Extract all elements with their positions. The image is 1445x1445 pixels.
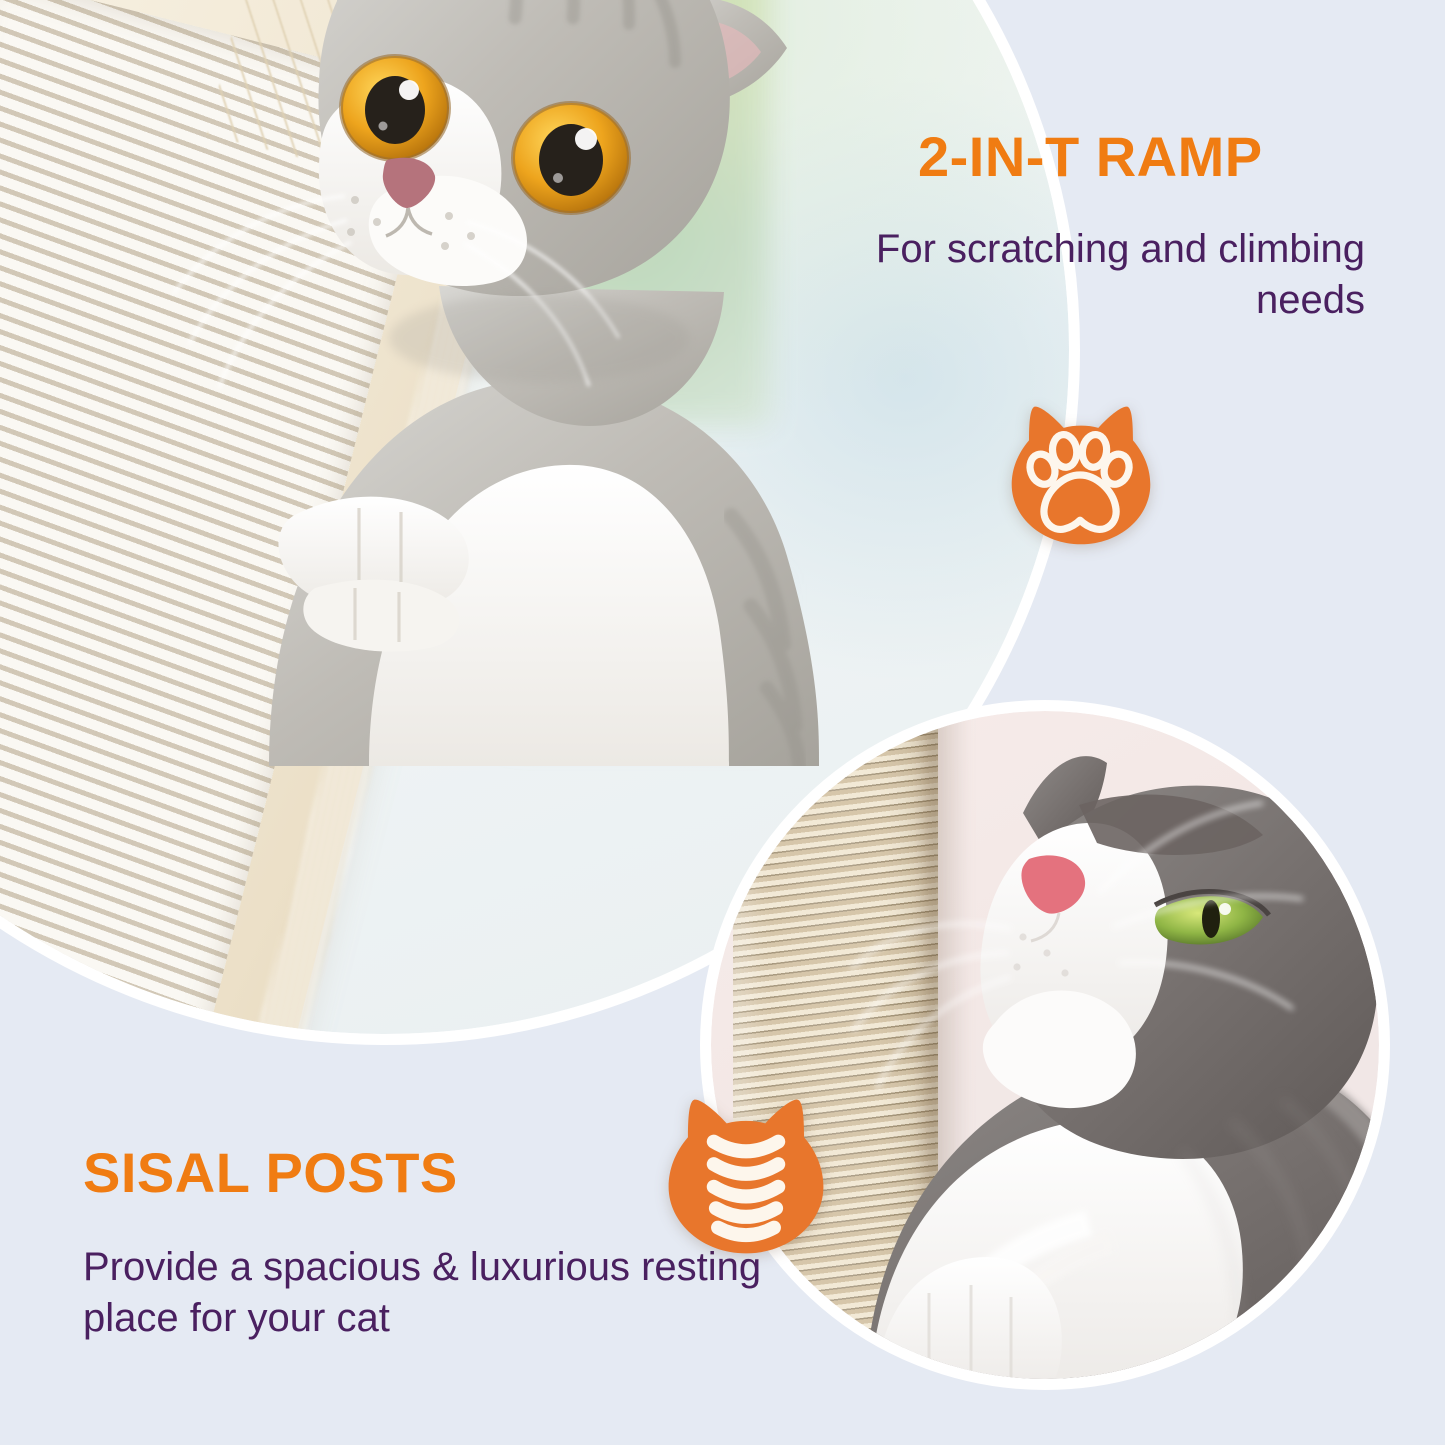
sisal-rope-icon <box>660 1090 832 1262</box>
infographic-canvas: 2-IN-T RAMP For scratching and climbing … <box>0 0 1445 1445</box>
cat-eye-right <box>513 103 629 213</box>
sisal-post-scene <box>711 711 1379 1379</box>
ramp-headline: 2-IN-T RAMP <box>918 129 1263 185</box>
shorthair-cat-illustration <box>119 0 859 766</box>
photo-clip-post <box>711 711 1379 1379</box>
paw-print-icon <box>1004 398 1158 552</box>
sisal-headline: SISAL POSTS <box>83 1145 458 1201</box>
longhair-cat-illustration <box>811 711 1379 1379</box>
cat-with-sisal-post-photo <box>700 700 1390 1390</box>
cat-eye-left <box>341 56 449 160</box>
ramp-subtext: For scratching and climbing needs <box>845 224 1365 326</box>
